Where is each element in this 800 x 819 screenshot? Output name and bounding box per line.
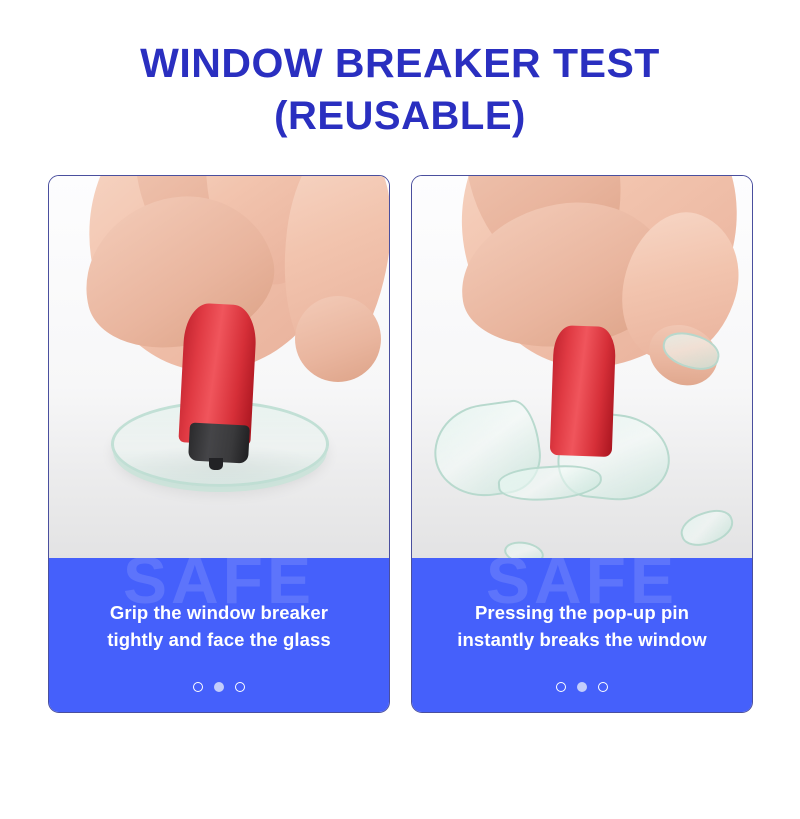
hand-fingertip [295,296,381,382]
page-title: WINDOW BREAKER TEST (REUSABLE) [0,0,800,143]
step-1-photo [49,176,389,558]
glass-shard [502,539,545,558]
dot-indicator-1[interactable] [556,682,566,692]
window-breaker-tool [550,325,616,457]
dot-indicator-2[interactable] [577,682,587,692]
step-1-dot-indicators[interactable] [193,682,245,692]
dot-indicator-3[interactable] [235,682,245,692]
steps-card-row: SAFE Grip the window breaker tightly and… [48,175,753,713]
step-1-caption-text: Grip the window breaker tightly and face… [49,600,389,654]
caption-line-2: instantly breaks the window [412,627,752,654]
dot-indicator-3[interactable] [598,682,608,692]
caption-line-1: Grip the window breaker [49,600,389,627]
dot-indicator-2[interactable] [214,682,224,692]
step-card-2[interactable]: SAFE Pressing the pop-up pin instantly b… [411,175,753,713]
step-2-caption-panel: SAFE Pressing the pop-up pin instantly b… [412,558,752,712]
caption-line-1: Pressing the pop-up pin [412,600,752,627]
pop-up-pin [209,458,223,470]
dot-indicator-1[interactable] [193,682,203,692]
caption-line-2: tightly and face the glass [49,627,389,654]
step-2-caption-text: Pressing the pop-up pin instantly breaks… [412,600,752,654]
step-2-dot-indicators[interactable] [556,682,608,692]
glass-shard [676,504,737,551]
step-1-caption-panel: SAFE Grip the window breaker tightly and… [49,558,389,712]
title-line-primary: WINDOW BREAKER TEST [0,36,800,90]
step-card-1[interactable]: SAFE Grip the window breaker tightly and… [48,175,390,713]
title-line-secondary: (REUSABLE) [0,90,800,143]
step-2-photo [412,176,752,558]
